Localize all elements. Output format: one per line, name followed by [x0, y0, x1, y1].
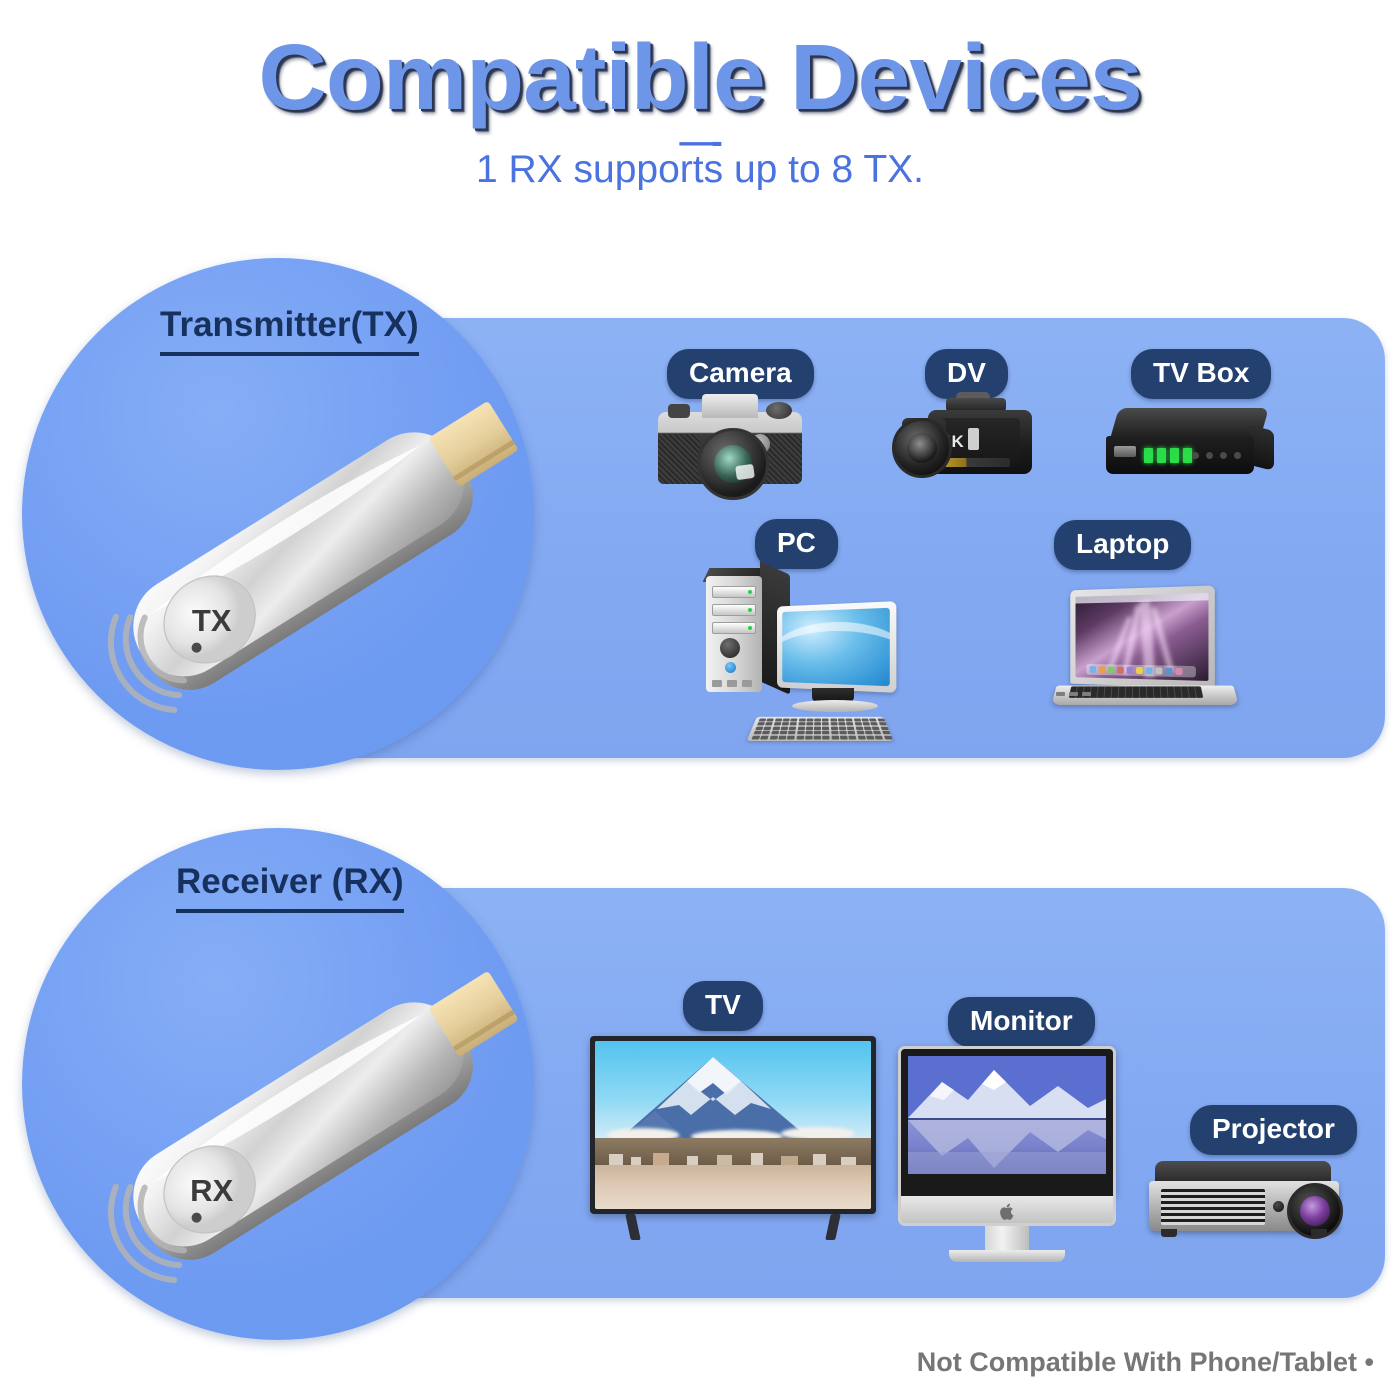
pill-tv-box[interactable]: TV Box [1131, 349, 1271, 399]
keyboard-icon [747, 717, 894, 741]
footer-note: Not Compatible With Phone/Tablet • [917, 1347, 1374, 1378]
camcorder-icon: 4K [890, 388, 1060, 498]
transmitter-dongle: TX [60, 370, 560, 760]
tv-box-icon [1100, 396, 1285, 491]
imac-monitor-icon [898, 1046, 1116, 1264]
pill-monitor[interactable]: Monitor [948, 997, 1095, 1047]
header: Compatible Devices —- 1 RX supports up t… [0, 0, 1400, 210]
pill-projector[interactable]: Projector [1190, 1105, 1357, 1155]
imac-wallpaper [908, 1056, 1106, 1174]
projector-icon [1145, 1155, 1345, 1250]
desktop-pc-icon [694, 560, 904, 720]
receiver-dongle-svg: RX [60, 940, 560, 1330]
receiver-badge-text: RX [190, 1173, 233, 1208]
pill-laptop[interactable]: Laptop [1054, 520, 1191, 570]
transmitter-dongle-svg: TX [60, 370, 560, 760]
camera-icon [650, 388, 810, 500]
laptop-icon [1046, 580, 1246, 725]
pill-tv[interactable]: TV [683, 981, 763, 1031]
television-icon [590, 1036, 876, 1246]
page-subtitle: 1 RX supports up to 8 TX. [0, 148, 1400, 192]
receiver-label: Receiver (RX) [176, 862, 404, 913]
transmitter-badge-text: TX [192, 603, 232, 638]
page-title: Compatible Devices [0, 24, 1400, 131]
receiver-dongle: RX [60, 940, 560, 1330]
transmitter-label: Transmitter(TX) [160, 305, 419, 356]
apple-logo-icon [1000, 1203, 1015, 1220]
